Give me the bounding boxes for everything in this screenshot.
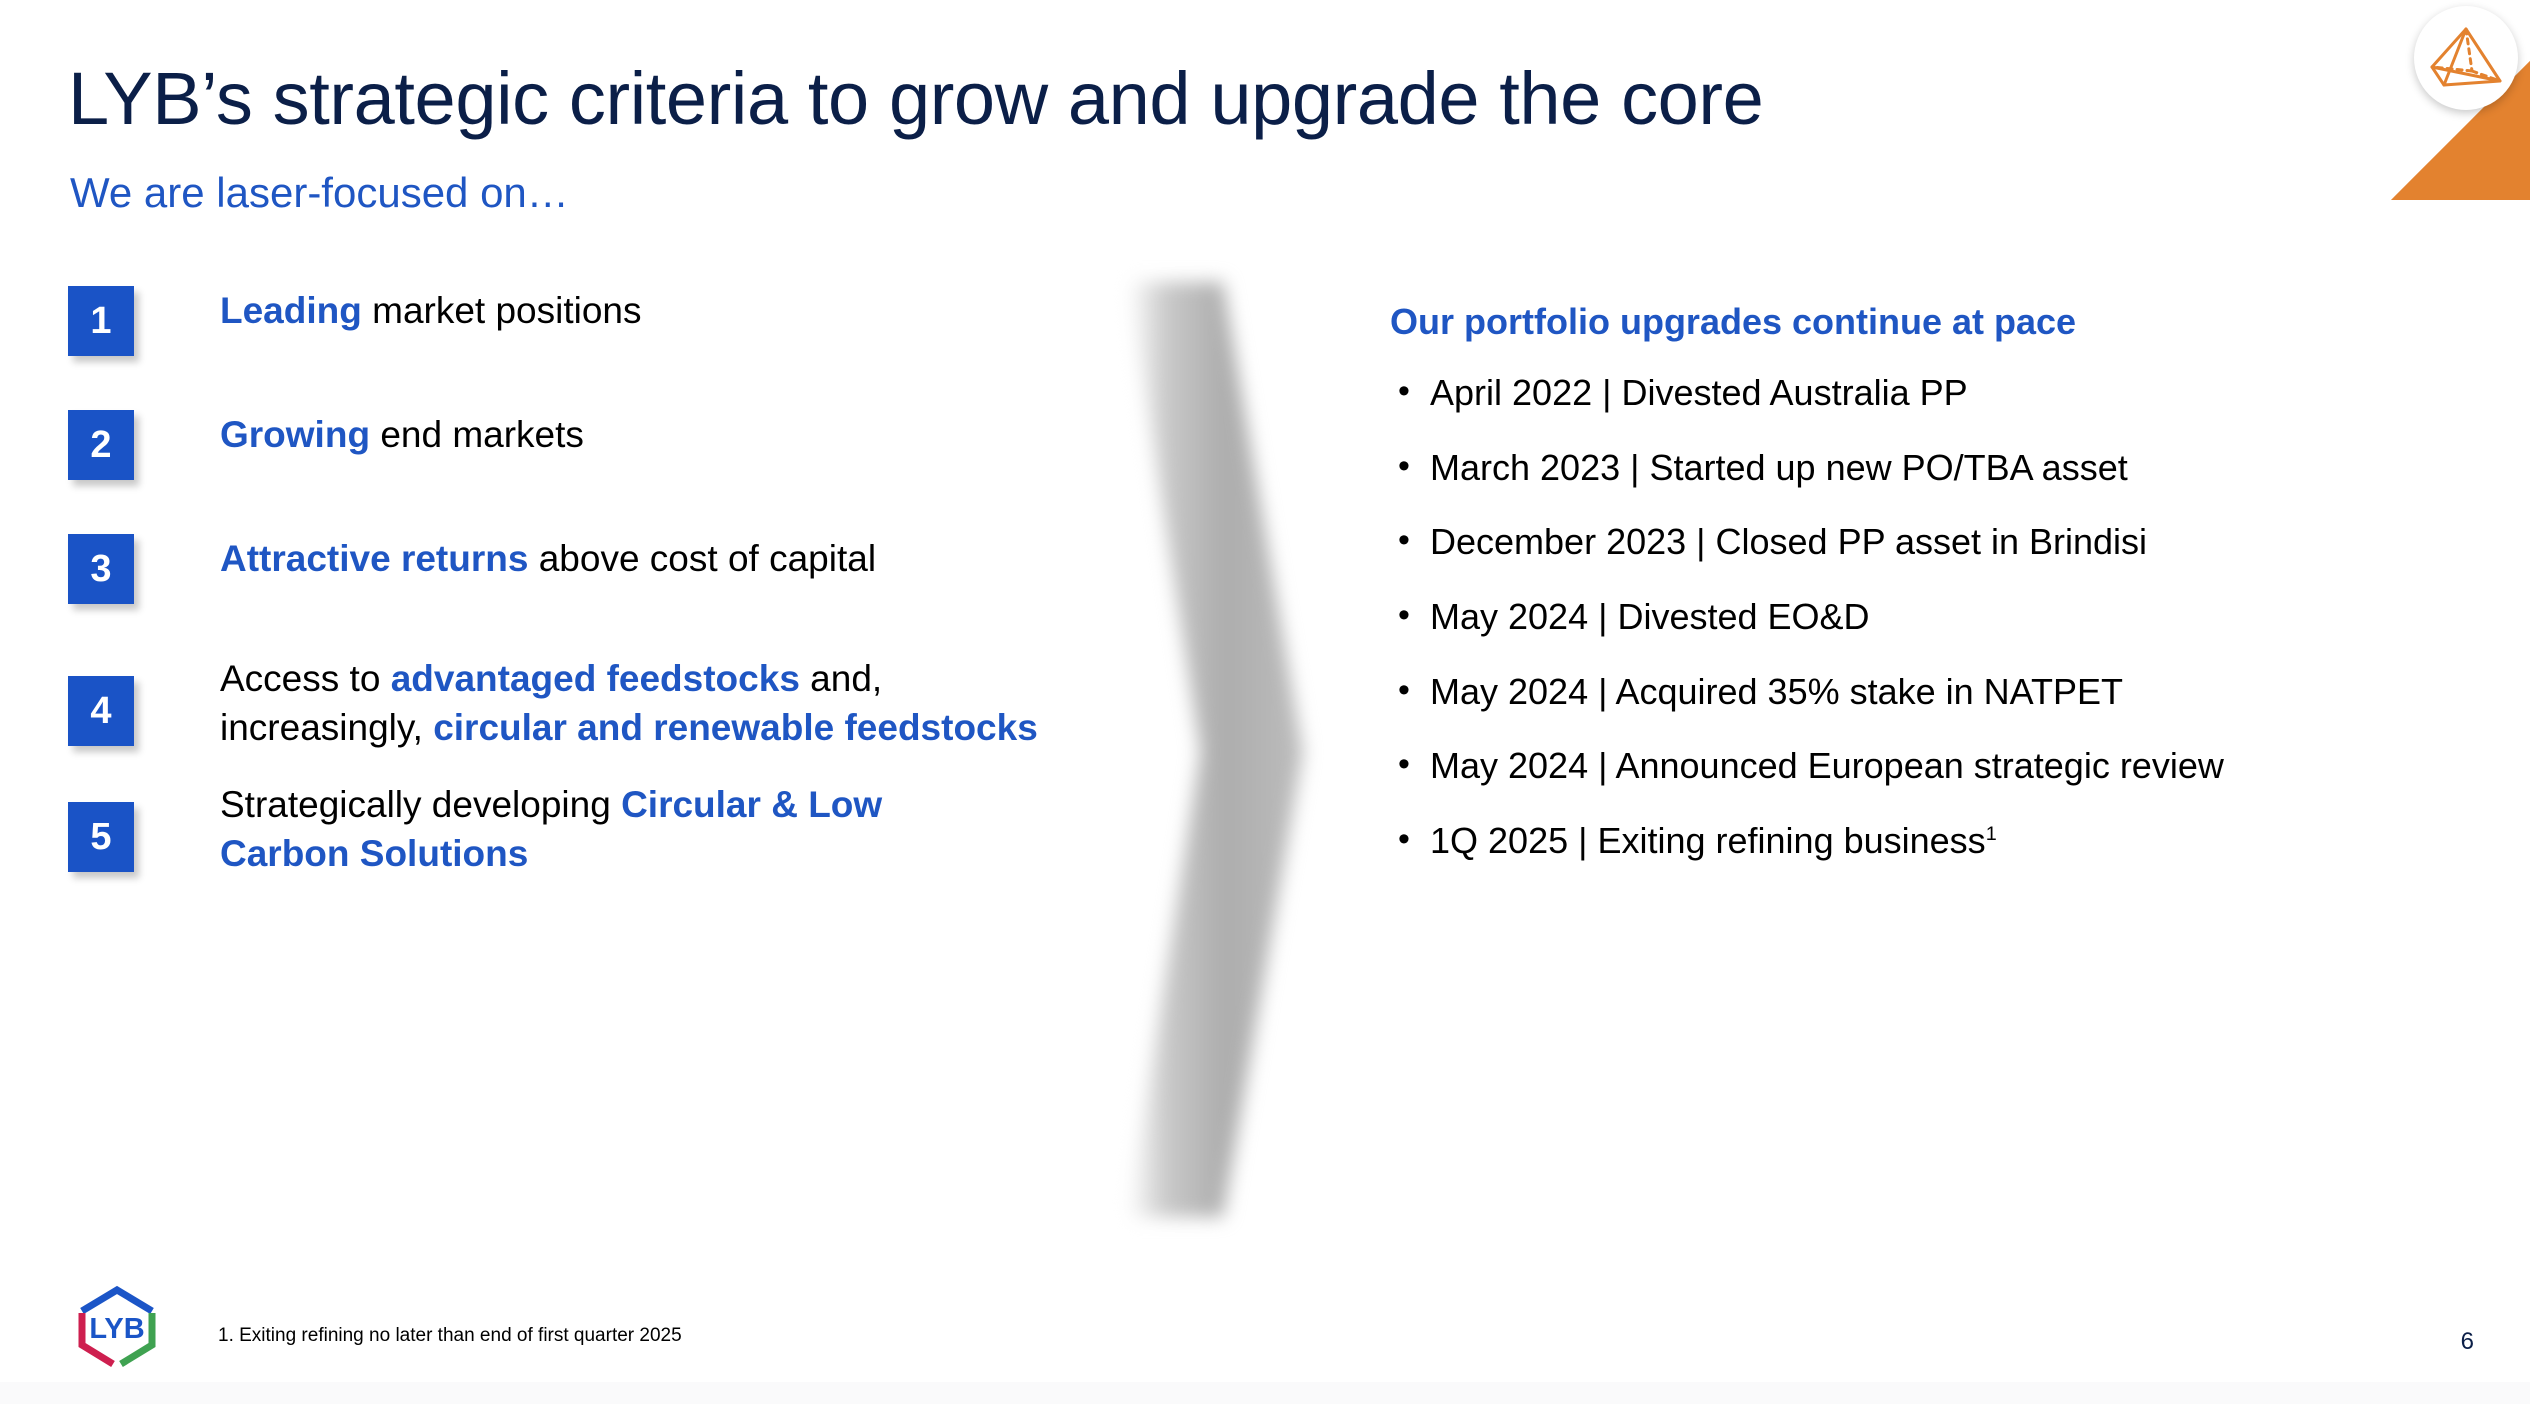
criteria-item-5: 5 Strategically developing Circular & Lo… <box>68 780 882 878</box>
portfolio-bullet-text: April 2022 | Divested Australia PP <box>1430 369 1968 418</box>
criteria-emphasis: Leading <box>220 290 362 331</box>
criteria-item-4: 4 Access to advantaged feedstocks and, i… <box>68 654 1038 752</box>
portfolio-bullet-text: May 2024 | Acquired 35% stake in NATPET <box>1430 668 2123 717</box>
bullet-icon: • <box>1390 518 1430 564</box>
criteria-emphasis: advantaged feedstocks <box>391 658 800 699</box>
criteria-item-text: Access to advantaged feedstocks and, inc… <box>220 654 1038 752</box>
svg-text:LYB: LYB <box>89 1313 144 1345</box>
page-title: LYB’s strategic criteria to grow and upg… <box>68 62 1763 136</box>
portfolio-bullet-text: December 2023 | Closed PP asset in Brind… <box>1430 518 2147 567</box>
portfolio-bullet-item: •April 2022 | Divested Australia PP <box>1390 369 2460 418</box>
footnote-text: 1. Exiting refining no later than end of… <box>218 1325 682 1347</box>
bottom-bar <box>0 1382 2530 1404</box>
bullet-icon: • <box>1390 817 1430 863</box>
bullet-icon: • <box>1390 668 1430 714</box>
criteria-plain: above cost of capital <box>528 538 876 579</box>
lyb-hexagon-logo: LYB <box>72 1283 162 1375</box>
criteria-item-2: 2 Growing end markets <box>68 410 584 480</box>
bullet-icon: • <box>1390 369 1430 415</box>
criteria-number-badge: 4 <box>68 676 134 746</box>
criteria-item-text: Leading market positions <box>220 286 642 335</box>
criteria-plain: end markets <box>370 414 584 455</box>
portfolio-bullet-item: •May 2024 | Announced European strategic… <box>1390 742 2460 791</box>
criteria-emphasis: Attractive returns <box>220 538 528 579</box>
portfolio-bullet-item: •December 2023 | Closed PP asset in Brin… <box>1390 518 2460 567</box>
criteria-plain: Strategically developing <box>220 784 621 825</box>
portfolio-bullet-item: •May 2024 | Divested EO&D <box>1390 593 2460 642</box>
page-number: 6 <box>2461 1328 2474 1356</box>
right-chevron-arrow <box>1118 282 1308 1217</box>
criteria-item-text: Strategically developing Circular & Low … <box>220 780 882 878</box>
bullet-icon: • <box>1390 444 1430 490</box>
portfolio-bullet-text: May 2024 | Divested EO&D <box>1430 593 1870 642</box>
portfolio-bullet-item: •March 2023 | Started up new PO/TBA asse… <box>1390 444 2460 493</box>
portfolio-bullet-text: May 2024 | Announced European strategic … <box>1430 742 2224 791</box>
portfolio-bullet-text: March 2023 | Started up new PO/TBA asset <box>1430 444 2128 493</box>
portfolio-bullet-text: 1Q 2025 | Exiting refining business1 <box>1430 817 1997 866</box>
portfolio-bullet-list: •April 2022 | Divested Australia PP•Marc… <box>1390 369 2460 865</box>
pyramid-icon <box>2414 6 2518 110</box>
criteria-emphasis: Growing <box>220 414 370 455</box>
portfolio-bullet-item: •May 2024 | Acquired 35% stake in NATPET <box>1390 668 2460 717</box>
criteria-item-3: 3 Attractive returns above cost of capit… <box>68 534 876 604</box>
page-subtitle: We are laser-focused on… <box>70 172 569 214</box>
slide-canvas: LYB’s strategic criteria to grow and upg… <box>0 0 2530 1404</box>
bullet-icon: • <box>1390 593 1430 639</box>
criteria-number-badge: 3 <box>68 534 134 604</box>
criteria-emphasis: circular and renewable feedstocks <box>433 707 1038 748</box>
portfolio-upgrades-panel: Our portfolio upgrades continue at pace … <box>1390 300 2460 891</box>
portfolio-bullet-item: •1Q 2025 | Exiting refining business1 <box>1390 817 2460 866</box>
criteria-number-badge: 2 <box>68 410 134 480</box>
criteria-item-1: 1 Leading market positions <box>68 286 642 356</box>
criteria-item-text: Attractive returns above cost of capital <box>220 534 876 583</box>
footnote-marker: 1 <box>1986 823 1997 845</box>
bullet-icon: • <box>1390 742 1430 788</box>
criteria-plain: Access to <box>220 658 391 699</box>
portfolio-heading: Our portfolio upgrades continue at pace <box>1390 300 2460 343</box>
criteria-number-badge: 5 <box>68 802 134 872</box>
criteria-number-badge: 1 <box>68 286 134 356</box>
criteria-item-text: Growing end markets <box>220 410 584 459</box>
criteria-plain: market positions <box>362 290 642 331</box>
